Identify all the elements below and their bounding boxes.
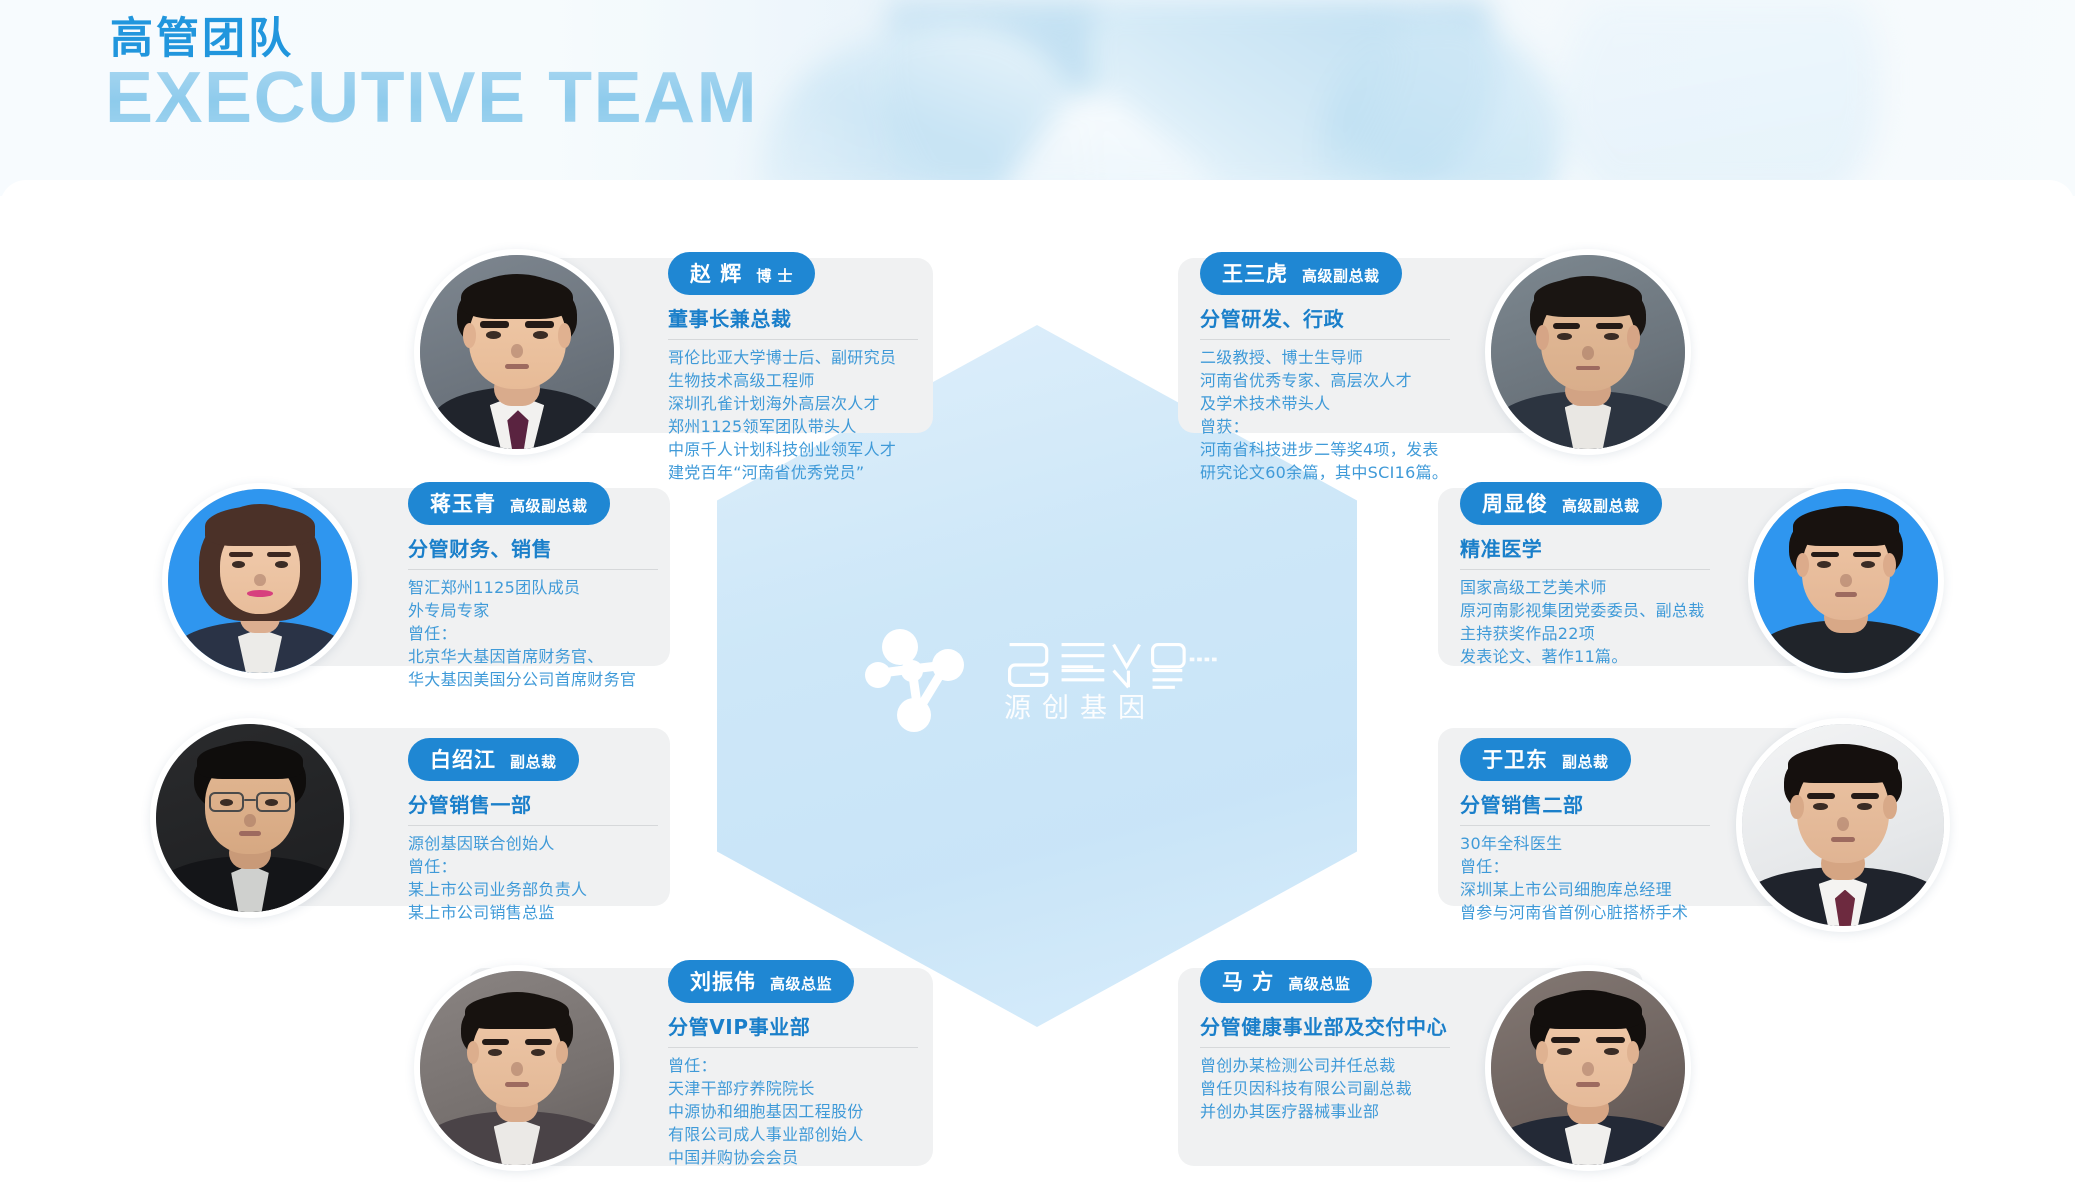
person-rank: 高级副总裁 (1302, 265, 1380, 286)
person-bio: 曾创办某检测公司并任总裁曾任贝因科技有限公司副总裁 并创办其医疗器械事业部 (1200, 1055, 1450, 1124)
person-role: 分管销售二部 (1460, 789, 1710, 818)
person-badge: 刘振伟 高级总监 (668, 960, 854, 1003)
person-badge: 蒋玉青 高级副总裁 (408, 482, 610, 525)
person-role: 董事长兼总裁 (668, 303, 918, 332)
person-badge: 马 方 高级总监 (1200, 960, 1372, 1003)
person-rank: 高级副总裁 (1562, 495, 1640, 516)
person-rank: 副总裁 (510, 751, 557, 772)
company-logo: 源创基因 (860, 620, 1220, 740)
person-role: 分管研发、行政 (1200, 303, 1450, 332)
person-bio: 30年全科医生曾任： 深圳某上市公司细胞库总经理曾参与河南省首例心脏搭桥手术 (1460, 833, 1710, 925)
person-rank: 高级总监 (1288, 973, 1350, 994)
avatar (1485, 965, 1691, 1171)
person-badge: 王三虎 高级副总裁 (1200, 252, 1402, 295)
person-badge: 于卫东 副总裁 (1460, 738, 1631, 781)
logo-chinese-name: 源创基因 (1004, 695, 1236, 722)
divider (408, 825, 658, 826)
person-role: 精准医学 (1460, 533, 1710, 562)
person-name: 于卫东 (1482, 744, 1548, 774)
person-name: 蒋玉青 (430, 488, 496, 518)
person-bio: 哥伦比亚大学博士后、副研究员生物技术高级工程师 深圳孔雀计划海外高层次人才郑州1… (668, 347, 918, 485)
molecule-icon (860, 625, 978, 735)
divider (408, 569, 658, 570)
page-header: 高管团队 EXECUTIVE TEAM (0, 0, 2075, 196)
person-bio: 二级教授、博士生导师河南省优秀专家、高层次人才 及学术技术带头人曾获： 河南省科… (1200, 347, 1450, 485)
divider (1460, 569, 1710, 570)
person-bio: 智汇郑州1125团队成员外专局专家 曾任：北京华大基因首席财务官、 华大基因美国… (408, 577, 658, 692)
avatar (162, 483, 358, 679)
avatar (1485, 249, 1691, 455)
person-role: 分管健康事业部及交付中心 (1200, 1011, 1450, 1040)
person-bio: 源创基因联合创始人曾任： 某上市公司业务部负责人某上市公司销售总监 (408, 833, 658, 925)
person-rank: 副总裁 (1562, 751, 1609, 772)
divider (1200, 339, 1450, 340)
divider (1460, 825, 1710, 826)
person-badge: 白绍江 副总裁 (408, 738, 579, 781)
divider (1200, 1047, 1450, 1048)
page-title-cn: 高管团队 (110, 18, 294, 61)
person-name: 王三虎 (1222, 258, 1288, 288)
avatar (414, 965, 620, 1171)
person-bio: 国家高级工艺美术师原河南影视集团党委委员、副总裁 主持获奖作品22项发表论文、著… (1460, 577, 1710, 669)
person-name: 赵 辉 (690, 258, 742, 288)
person-rank: 博 士 (756, 265, 793, 286)
person-rank: 高级副总裁 (510, 495, 588, 516)
avatar (1748, 483, 1944, 679)
person-name: 马 方 (1222, 966, 1274, 996)
person-name: 白绍江 (430, 744, 496, 774)
person-role: 分管财务、销售 (408, 533, 658, 562)
page-title-en: EXECUTIVE TEAM (105, 62, 758, 134)
person-role: 分管VIP事业部 (668, 1011, 918, 1040)
divider (668, 1047, 918, 1048)
person-rank: 高级总监 (770, 973, 832, 994)
person-role: 分管销售一部 (408, 789, 658, 818)
person-name: 周显俊 (1482, 488, 1548, 518)
person-bio: 曾任：天津干部疗养院院长 中源协和细胞基因工程股份有限公司成人事业部创始人 中国… (668, 1055, 918, 1170)
avatar (1736, 718, 1950, 932)
avatar (150, 718, 350, 918)
divider (668, 339, 918, 340)
person-badge: 赵 辉 博 士 (668, 252, 815, 295)
gevogene-wordmark-icon (1004, 639, 1236, 691)
person-name: 刘振伟 (690, 966, 756, 996)
avatar (414, 249, 620, 455)
person-badge: 周显俊 高级副总裁 (1460, 482, 1662, 525)
